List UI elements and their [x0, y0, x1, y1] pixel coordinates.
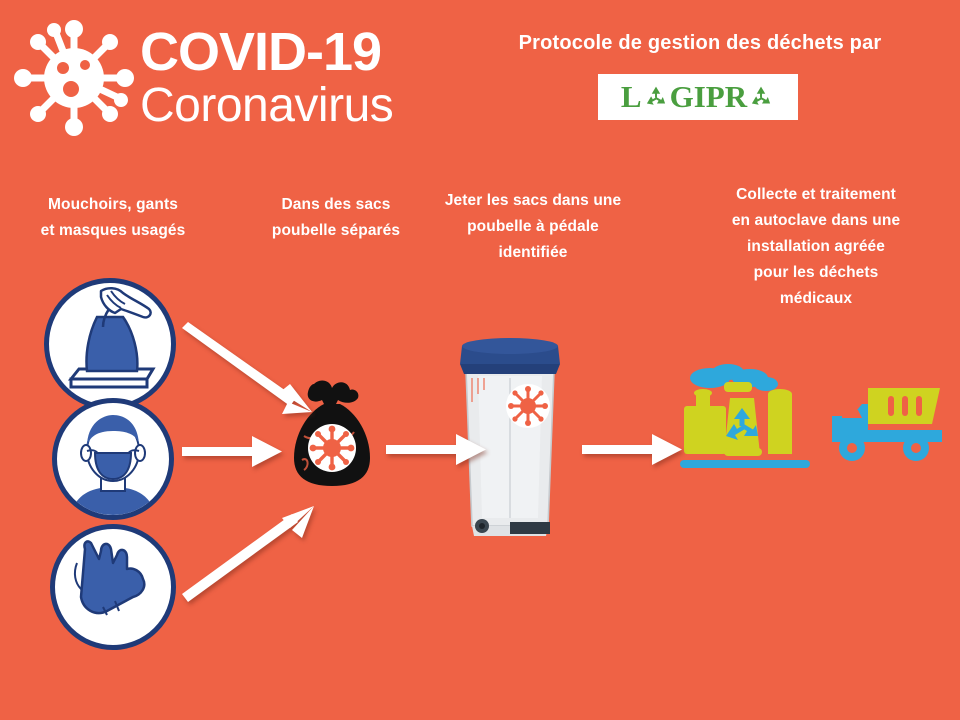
logipro-logo: L GIPR — [598, 74, 798, 120]
step-2-caption-line-1: Dans des sacs — [236, 192, 436, 218]
coronavirus-virus-icon — [14, 18, 134, 138]
arrow-bin-to-facility — [582, 428, 686, 472]
recycle-icon — [748, 84, 774, 110]
logipro-letters-gipr: GIPR — [670, 79, 748, 115]
step-3-caption-line-2: poubelle à pédale — [410, 214, 656, 240]
step-4-caption-line-3: installation agréée — [680, 234, 952, 260]
dump-truck-icon — [828, 382, 952, 464]
masked-face-icon — [52, 398, 174, 520]
step-4-caption-line-1: Collecte et traitement — [680, 182, 952, 208]
arrow-tissue-to-bag — [178, 322, 322, 418]
covid19-title: COVID-19 — [140, 24, 450, 80]
covid19-wordmark: COVID-19 Coronavirus — [140, 24, 450, 140]
covid19-logo: COVID-19 Coronavirus — [8, 10, 448, 140]
step-4-caption-line-4: pour les déchets — [680, 260, 952, 286]
page-title: Protocole de gestion des déchets par — [480, 32, 920, 55]
recycle-icon — [643, 84, 669, 110]
glove-icon — [50, 524, 176, 650]
arrow-glove-to-bag — [178, 502, 322, 602]
step-3-caption-line-1: Jeter les sacs dans une — [410, 188, 656, 214]
logipro-wordmark: L GIPR — [621, 79, 775, 115]
tissue-in-bin-icon — [44, 278, 176, 410]
infographic-canvas: COVID-19 Coronavirus Protocole de gestio… — [0, 0, 960, 720]
logipro-letter-l: L — [621, 79, 642, 115]
recycling-factory-icon — [676, 364, 816, 474]
step-2-caption-line-2: poubelle séparés — [236, 218, 436, 244]
step-1-caption-line-1: Mouchoirs, gants — [0, 192, 226, 218]
step-3-caption: Jeter les sacs dans une poubelle à pédal… — [410, 188, 656, 266]
step-1-caption-line-2: et masques usagés — [0, 218, 226, 244]
step-4-caption: Collecte et traitement en autoclave dans… — [680, 182, 952, 312]
step-4-caption-line-2: en autoclave dans une — [680, 208, 952, 234]
coronavirus-subtitle: Coronavirus — [140, 80, 450, 132]
step-4-caption-line-5: médicaux — [680, 286, 952, 312]
arrow-mask-to-bag — [182, 430, 286, 474]
step-3-caption-line-3: identifiée — [410, 240, 656, 266]
step-2-caption: Dans des sacs poubelle séparés — [236, 192, 436, 244]
step-1-caption: Mouchoirs, gants et masques usagés — [0, 192, 226, 244]
arrow-bag-to-bin — [386, 428, 490, 472]
